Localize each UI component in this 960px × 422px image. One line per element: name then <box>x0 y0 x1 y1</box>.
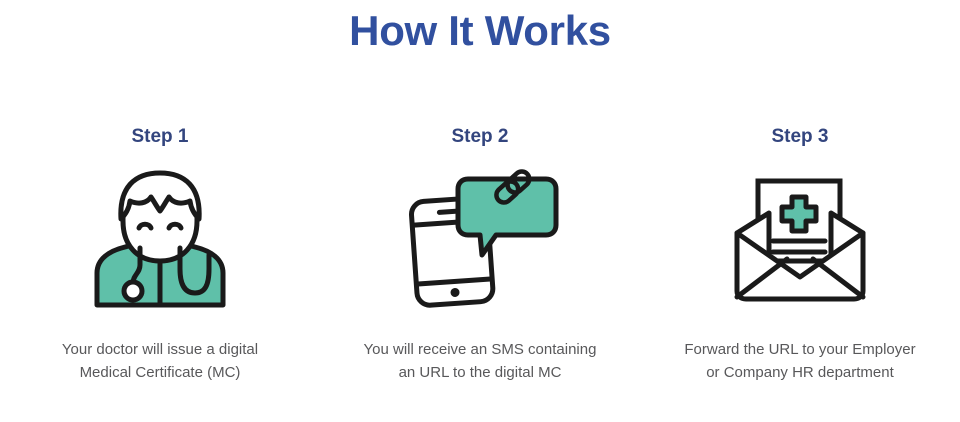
step-illustration-2 <box>320 164 640 314</box>
how-it-works-section: How It Works Step 1 <box>0 0 960 422</box>
step-caption-1-line2: Medical Certificate (MC) <box>10 361 310 384</box>
step-illustration-3 <box>640 164 960 314</box>
step-label-3: Step 3 <box>771 120 828 154</box>
step-caption-3-line2: or Company HR department <box>650 361 950 384</box>
step-caption-2: You will receive an SMS containing an UR… <box>330 338 630 384</box>
step-caption-2-line1: You will receive an SMS containing <box>330 338 630 361</box>
step-illustration-1 <box>0 164 320 314</box>
step-item-1: Step 1 <box>0 120 320 384</box>
phone-sms-link-icon <box>400 169 560 309</box>
step-caption-1-line1: Your doctor will issue a digital <box>10 338 310 361</box>
step-item-2: Step 2 <box>320 120 640 384</box>
step-item-3: Step 3 <box>640 120 960 384</box>
step-caption-3-line1: Forward the URL to your Employer <box>650 338 950 361</box>
page-title: How It Works <box>0 2 960 60</box>
steps-row: Step 1 <box>0 120 960 384</box>
step-label-1: Step 1 <box>131 120 188 154</box>
step-caption-3: Forward the URL to your Employer or Comp… <box>650 338 950 384</box>
envelope-certificate-icon <box>725 169 875 309</box>
doctor-icon <box>85 169 235 309</box>
step-caption-2-line2: an URL to the digital MC <box>330 361 630 384</box>
step-label-2: Step 2 <box>451 120 508 154</box>
step-caption-1: Your doctor will issue a digital Medical… <box>10 338 310 384</box>
